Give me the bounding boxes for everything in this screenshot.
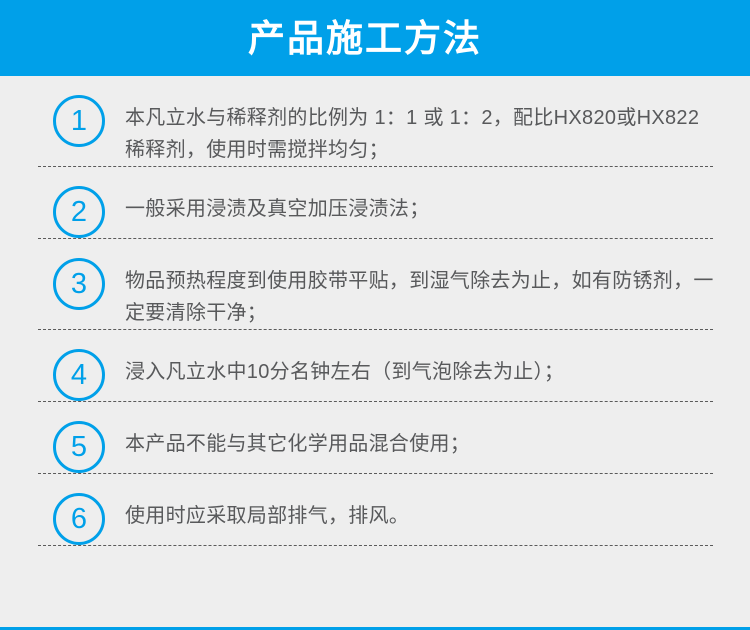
product-construction-method-page: 产品施工方法 1 本凡立水与稀释剂的比例为 1：1 或 1：2，配比HX820或… [0,0,750,630]
step-number-badge: 5 [53,421,105,473]
step-text: 本产品不能与其它化学用品混合使用； [125,428,714,460]
step-text: 一般采用浸渍及真空加压浸渍法； [125,193,714,225]
page-header-banner: 产品施工方法 [0,0,750,76]
step-number-badge: 4 [53,349,105,401]
list-separator [38,545,713,546]
step-number-badge: 6 [53,493,105,545]
page-title: 产品施工方法 [248,20,482,57]
list-item: 6 使用时应采取局部排气，排风。 [0,474,750,545]
steps-list: 1 本凡立水与稀释剂的比例为 1：1 或 1：2，配比HX820或HX822稀释… [0,76,750,546]
list-item: 4 浸入凡立水中10分名钟左右（到气泡除去为止）； [0,330,750,401]
step-text: 使用时应采取局部排气，排风。 [125,500,714,532]
list-item: 3 物品预热程度到使用胶带平贴，到湿气除去为止，如有防锈剂，一定要清除干净； [0,239,750,329]
list-item: 2 一般采用浸渍及真空加压浸渍法； [0,167,750,238]
step-number-badge: 1 [53,95,105,147]
step-text: 物品预热程度到使用胶带平贴，到湿气除去为止，如有防锈剂，一定要清除干净； [125,265,714,329]
step-number-badge: 3 [53,258,105,310]
list-item: 1 本凡立水与稀释剂的比例为 1：1 或 1：2，配比HX820或HX822稀释… [0,76,750,166]
step-text: 本凡立水与稀释剂的比例为 1：1 或 1：2，配比HX820或HX822稀释剂，… [125,102,714,166]
step-text: 浸入凡立水中10分名钟左右（到气泡除去为止）； [125,356,714,388]
list-item: 5 本产品不能与其它化学用品混合使用； [0,402,750,473]
step-number-badge: 2 [53,186,105,238]
